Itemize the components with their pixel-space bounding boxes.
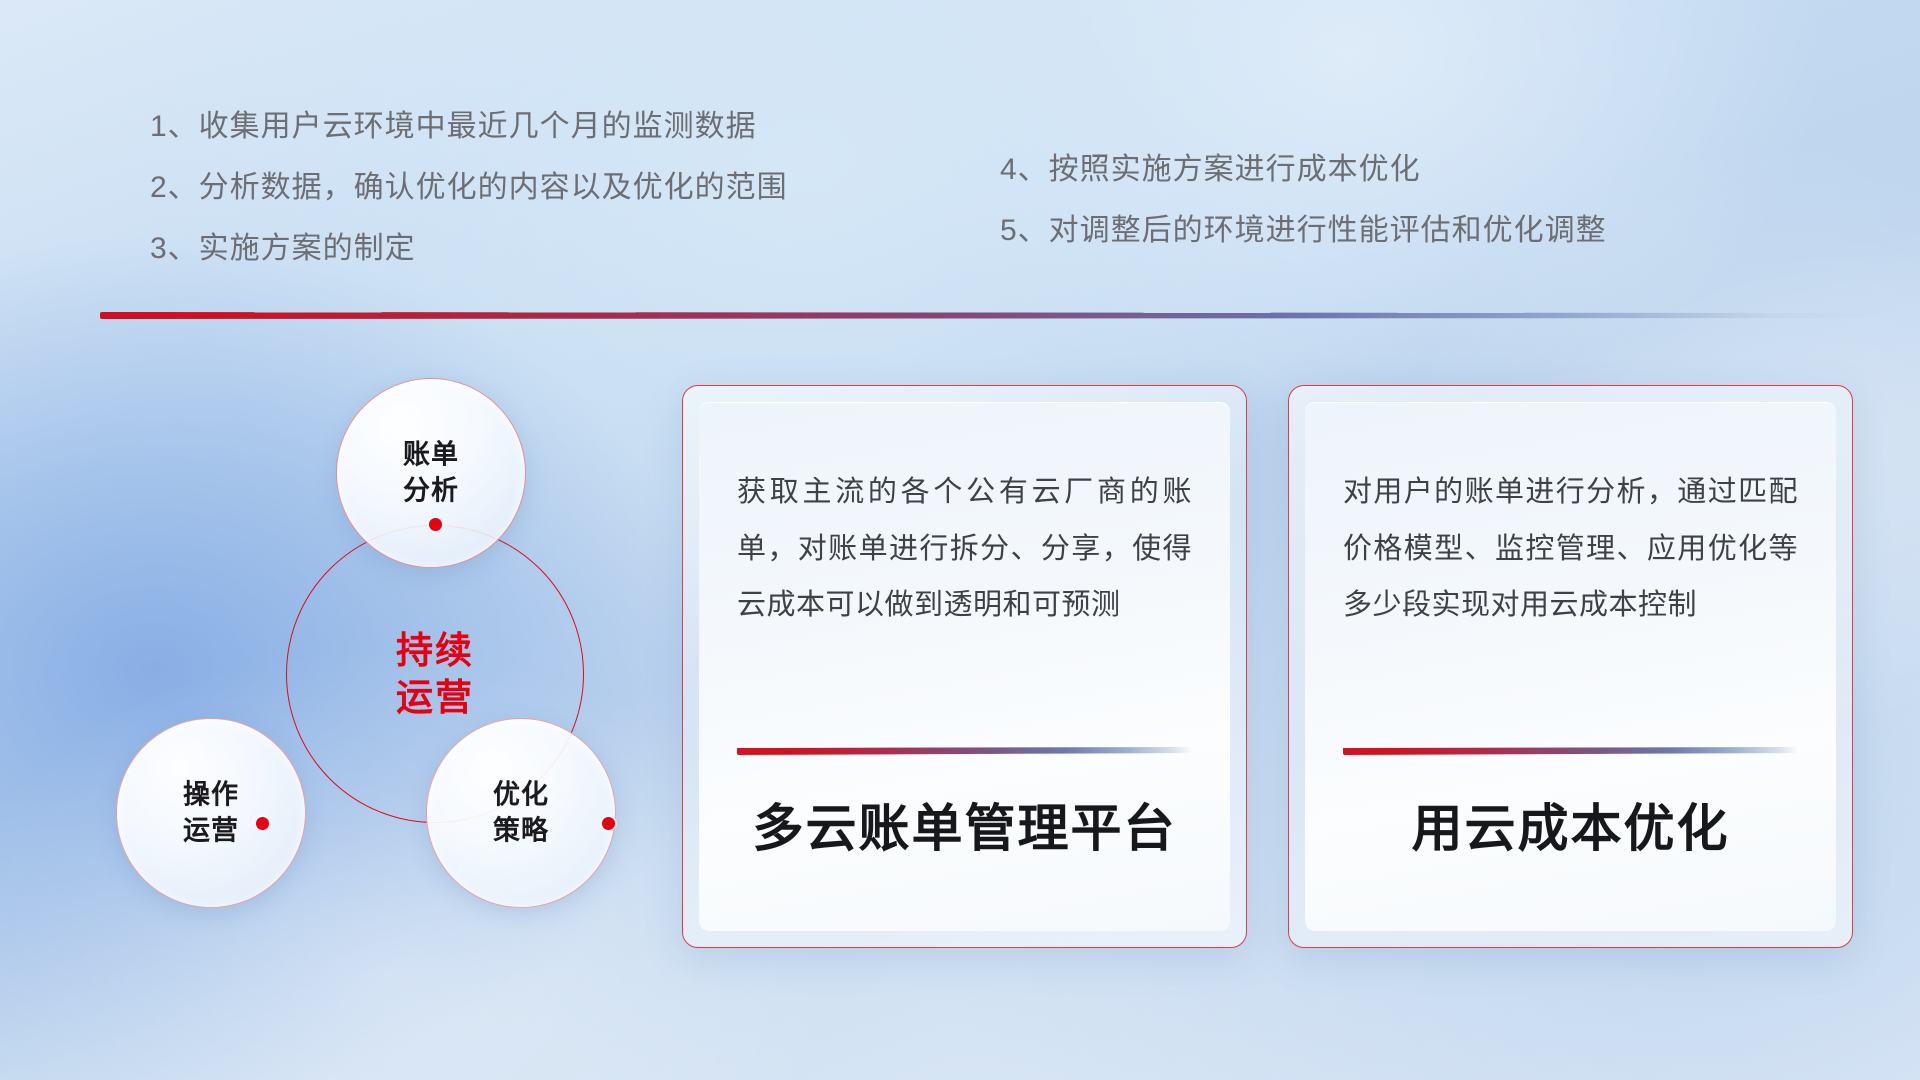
card-divider-line — [1343, 747, 1798, 755]
card-description: 对用户的账单进行分析，通过匹配价格模型、监控管理、应用优化等多少段实现对用云成本… — [1343, 464, 1798, 634]
node-label-line1: 账单 — [337, 437, 525, 473]
step-item: 5、对调整后的环境进行性能评估和优化调整 — [1000, 216, 1607, 246]
card-divider-line — [737, 747, 1192, 755]
card-description: 获取主流的各个公有云厂商的账单，对账单进行拆分、分享，使得云成本可以做到透明和可… — [737, 464, 1192, 634]
node-label-line1: 操作 — [117, 777, 305, 813]
diagram-node-label: 操作 运营 — [117, 777, 305, 848]
diagram-center-label-line2: 运营 — [396, 674, 474, 721]
diagram-node-bill-analysis[interactable]: 账单 分析 — [336, 378, 526, 568]
node-label-line1: 优化 — [427, 777, 615, 813]
step-item: 2、分析数据，确认优化的内容以及优化的范围 — [150, 173, 788, 203]
steps-column-left: 1、收集用户云环境中最近几个月的监测数据 2、分析数据，确认优化的内容以及优化的… — [150, 112, 788, 295]
diagram-node-label: 优化 策略 — [427, 777, 615, 848]
node-label-line2: 策略 — [427, 813, 615, 849]
section-divider-line — [100, 312, 1880, 319]
diagram-node-label: 账单 分析 — [337, 437, 525, 508]
card-title: 用云成本优化 — [1343, 798, 1798, 859]
diagram-connector-dot-top — [429, 518, 442, 531]
diagram-node-operation[interactable]: 操作 运营 — [116, 718, 306, 908]
diagram-center-label-line1: 持续 — [396, 627, 474, 674]
card-title: 多云账单管理平台 — [737, 798, 1192, 859]
diagram-connector-dot-bottom-left — [256, 817, 269, 830]
node-label-line2: 运营 — [117, 813, 305, 849]
node-label-line2: 分析 — [337, 473, 525, 509]
card-inner-panel: 对用户的账单进行分析，通过匹配价格模型、监控管理、应用优化等多少段实现对用云成本… — [1305, 402, 1836, 931]
diagram-connector-dot-bottom-right — [602, 817, 615, 830]
diagram-node-optimization-strategy[interactable]: 优化 策略 — [426, 718, 616, 908]
steps-column-right: 4、按照实施方案进行成本优化 5、对调整后的环境进行性能评估和优化调整 — [1000, 155, 1607, 277]
steps-section: 1、收集用户云环境中最近几个月的监测数据 2、分析数据，确认优化的内容以及优化的… — [0, 0, 1920, 300]
card-inner-panel: 获取主流的各个公有云厂商的账单，对账单进行拆分、分享，使得云成本可以做到透明和可… — [699, 402, 1230, 931]
step-item: 4、按照实施方案进行成本优化 — [1000, 155, 1607, 185]
step-item: 3、实施方案的制定 — [150, 234, 788, 264]
feature-card-multi-cloud-billing-platform[interactable]: 获取主流的各个公有云厂商的账单，对账单进行拆分、分享，使得云成本可以做到透明和可… — [682, 385, 1247, 948]
step-item: 1、收集用户云环境中最近几个月的监测数据 — [150, 112, 788, 142]
feature-card-cloud-cost-optimization[interactable]: 对用户的账单进行分析，通过匹配价格模型、监控管理、应用优化等多少段实现对用云成本… — [1288, 385, 1853, 948]
continuous-operation-diagram: 持续 运营 账单 分析 操作 运营 优化 策略 — [96, 350, 656, 950]
